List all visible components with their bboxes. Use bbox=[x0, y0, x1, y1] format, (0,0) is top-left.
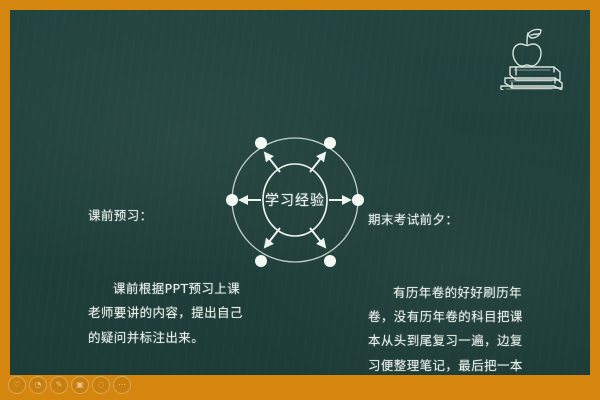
section-before-final-exam: 期末考试前夕： 有历年卷的好好刷历年卷，没有历年卷的科目把课本从头到尾复习一遍，… bbox=[368, 159, 528, 375]
comment-icon[interactable]: ◔ bbox=[29, 376, 47, 394]
screenshot-root: 课前预习： 课前根据PPT预习上课老师要讲的内容，提出自己的疑问并标注出来。 课… bbox=[0, 0, 600, 400]
node-top-right bbox=[324, 137, 336, 149]
inner-ellipse bbox=[263, 164, 327, 236]
node-top-left bbox=[255, 137, 267, 149]
radial-diagram-svg bbox=[215, 115, 375, 285]
node-group bbox=[226, 137, 364, 267]
arrow-down-right bbox=[310, 228, 325, 247]
section-body: 有历年卷的好好刷历年卷，没有历年卷的科目把课本从头到尾复习一遍，边复习便整理笔记… bbox=[368, 281, 528, 375]
apple-leaf-vein bbox=[531, 34, 539, 35]
node-left bbox=[226, 194, 238, 206]
radial-diagram: 学习经验 bbox=[215, 115, 375, 285]
section-title: 期末考试前夕： bbox=[368, 208, 528, 232]
bottom-icon-bar[interactable]: ♡ ◔ ✎ ▣ ◌ ⋯ bbox=[8, 376, 131, 400]
apple-on-books-icon bbox=[490, 18, 576, 90]
arrow-down-left bbox=[265, 228, 280, 247]
right-text-column: 期末考试前夕： 有历年卷的好好刷历年卷，没有历年卷的科目把课本从头到尾复习一遍，… bbox=[368, 110, 528, 375]
thumbs-up-icon[interactable]: ♡ bbox=[8, 376, 26, 394]
more-icon[interactable]: ⋯ bbox=[113, 376, 131, 394]
apple-body bbox=[513, 44, 541, 66]
search-icon[interactable]: ◌ bbox=[92, 376, 110, 394]
arrow-up-right bbox=[310, 153, 325, 172]
arrow-group bbox=[240, 153, 350, 247]
edit-icon[interactable]: ✎ bbox=[50, 376, 68, 394]
book-top-lines bbox=[516, 67, 554, 75]
arrow-up-left bbox=[265, 153, 280, 172]
node-right bbox=[352, 194, 364, 206]
node-bottom-left bbox=[255, 255, 267, 267]
bookmark-icon[interactable]: ▣ bbox=[71, 376, 89, 394]
node-bottom-right bbox=[324, 255, 336, 267]
section-body: 课前根据PPT预习上课老师要讲的内容，提出自己的疑问并标注出来。 bbox=[88, 277, 248, 350]
chalkboard: 课前预习： 课前根据PPT预习上课老师要讲的内容，提出自己的疑问并标注出来。 课… bbox=[10, 10, 590, 375]
